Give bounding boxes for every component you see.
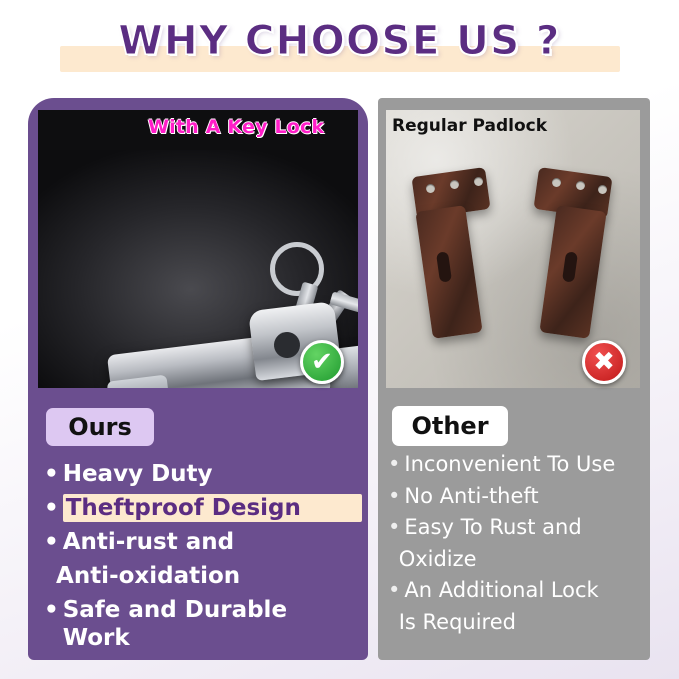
screw-hole <box>552 178 561 187</box>
list-item-label: Inconvenient To Use <box>404 452 646 478</box>
bullet-glyph: • <box>44 494 59 522</box>
list-item: • Safe and Durable Work <box>44 596 362 652</box>
bullet-glyph: • <box>44 596 59 624</box>
bullet-list-other: • Inconvenient To Use • No Anti-theft • … <box>388 452 646 642</box>
list-item-label: Easy To Rust and <box>404 515 646 541</box>
screw-hole <box>576 181 585 190</box>
bullet-glyph: • <box>388 484 400 510</box>
bullet-spacer <box>44 562 52 590</box>
list-item-continuation: Oxidize <box>388 547 646 573</box>
list-item: • Inconvenient To Use <box>388 452 646 478</box>
pill-other: Other <box>392 406 508 446</box>
screw-hole <box>474 177 483 186</box>
list-item-label: No Anti-theft <box>404 484 646 510</box>
bullet-glyph: • <box>44 460 59 488</box>
list-item-label: Theftproof Design <box>63 494 362 522</box>
list-item-label: Anti-rust and <box>63 528 362 556</box>
list-item: • Easy To Rust and <box>388 515 646 541</box>
list-item: • No Anti-theft <box>388 484 646 510</box>
list-item-label: Safe and Durable Work <box>63 596 362 652</box>
list-item-label: Heavy Duty <box>63 460 362 488</box>
pill-ours: Ours <box>46 408 154 446</box>
list-item: • Theftproof Design <box>44 494 362 522</box>
bullet-spacer <box>388 610 395 636</box>
bullet-glyph: • <box>388 452 400 478</box>
cross-badge: ✖ <box>582 340 626 384</box>
bullet-glyph: • <box>44 528 59 556</box>
check-badge: ✔ <box>300 340 344 384</box>
list-item-continuation: Anti-oxidation <box>44 562 362 590</box>
list-item-label: An Additional Lock <box>404 578 646 604</box>
bullet-glyph: • <box>388 578 400 604</box>
list-item-continuation: Is Required <box>388 610 646 636</box>
screw-hole <box>450 180 459 189</box>
comparison-infographic: WHY CHOOSE US ? With A Key Lock ✔ Ours •… <box>0 0 679 679</box>
bullet-glyph: • <box>388 515 400 541</box>
list-item-label: Oxidize <box>399 547 646 573</box>
screw-hole <box>426 184 435 193</box>
list-item-label: Anti-oxidation <box>56 562 362 590</box>
list-item: • Heavy Duty <box>44 460 362 488</box>
page-title: WHY CHOOSE US ? <box>0 18 679 64</box>
list-item: • Anti-rust and <box>44 528 362 556</box>
photo-caption-ours: With A Key Lock <box>148 116 324 138</box>
list-item: • An Additional Lock <box>388 578 646 604</box>
list-item-label: Is Required <box>399 610 646 636</box>
photo-caption-other: Regular Padlock <box>392 116 547 136</box>
bullet-spacer <box>388 547 395 573</box>
bullet-list-ours: • Heavy Duty • Theftproof Design • Anti-… <box>44 460 362 658</box>
screw-hole <box>598 185 607 194</box>
